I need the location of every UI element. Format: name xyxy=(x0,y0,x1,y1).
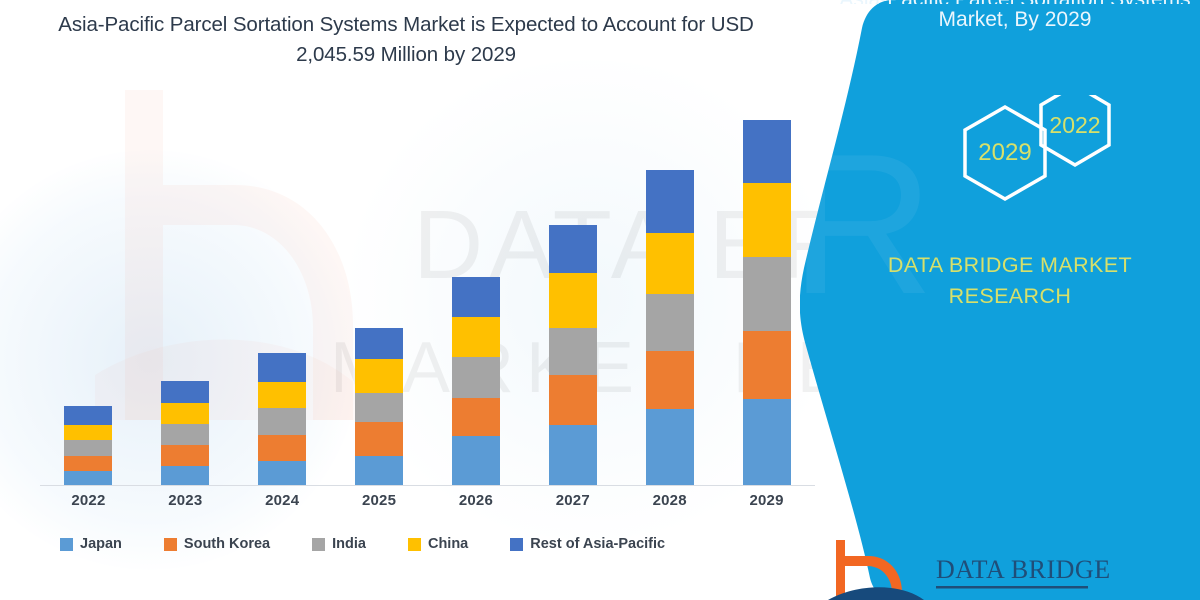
x-tick-label: 2028 xyxy=(635,492,705,509)
data-bridge-logo: DATA BRIDGE xyxy=(828,534,1128,600)
bar-group[interactable] xyxy=(161,381,209,485)
legend-swatch xyxy=(312,538,325,551)
bar-segment[interactable] xyxy=(549,425,597,485)
bar-segment[interactable] xyxy=(646,409,694,485)
bar-group[interactable] xyxy=(549,225,597,485)
infographic-canvas: DATA BRIDGE MARKET RESEARCH Asia-Pacific… xyxy=(0,0,1200,600)
bar-segment[interactable] xyxy=(64,456,112,472)
bar-segment[interactable] xyxy=(452,398,500,436)
bar-segment[interactable] xyxy=(64,425,112,440)
x-tick-label: 2026 xyxy=(441,492,511,509)
brand-line-1: DATA BRIDGE MARKET xyxy=(840,250,1180,281)
legend-swatch xyxy=(408,538,421,551)
x-axis-tick-labels: 20222023202420252026202720282029 xyxy=(40,492,815,522)
bar-segment[interactable] xyxy=(355,393,403,422)
hexagon-2022-label: 2022 xyxy=(1049,112,1100,138)
bar-group[interactable] xyxy=(258,353,306,485)
bar-segment[interactable] xyxy=(646,351,694,410)
legend-label: China xyxy=(428,536,468,552)
bar-segment[interactable] xyxy=(258,435,306,461)
chart-legend: JapanSouth KoreaIndiaChinaRest of Asia-P… xyxy=(60,536,800,552)
bar-segment[interactable] xyxy=(452,277,500,317)
logo-underline xyxy=(936,586,1088,589)
bar-group[interactable] xyxy=(355,328,403,485)
stacked-bar-chart: 20222023202420252026202720282029 xyxy=(40,110,815,488)
bar-segment[interactable] xyxy=(646,170,694,233)
legend-label: Japan xyxy=(80,536,122,552)
bar-segment[interactable] xyxy=(549,375,597,425)
panel-title: Asia-Pacific Parcel Sortation Systems Ma… xyxy=(830,0,1200,36)
chart-plot-area xyxy=(40,110,815,485)
bar-segment[interactable] xyxy=(646,294,694,351)
bar-segment[interactable] xyxy=(549,225,597,273)
bar-segment[interactable] xyxy=(743,120,791,183)
panel-title-line-bottom: Market, By 2029 xyxy=(939,8,1092,31)
x-axis-line xyxy=(40,485,815,486)
bar-group[interactable] xyxy=(743,120,791,486)
brand-name: DATA BRIDGE MARKET RESEARCH xyxy=(840,250,1180,311)
bar-segment[interactable] xyxy=(743,331,791,399)
legend-item[interactable]: China xyxy=(408,536,468,552)
bar-group[interactable] xyxy=(452,277,500,485)
bar-segment[interactable] xyxy=(355,328,403,359)
bar-segment[interactable] xyxy=(161,381,209,403)
x-tick-label: 2029 xyxy=(732,492,802,509)
bar-segment[interactable] xyxy=(161,445,209,466)
bar-segment[interactable] xyxy=(452,436,500,485)
legend-item[interactable]: Rest of Asia-Pacific xyxy=(510,536,665,552)
bar-group[interactable] xyxy=(646,170,694,485)
x-tick-label: 2027 xyxy=(538,492,608,509)
legend-label: Rest of Asia-Pacific xyxy=(530,536,665,552)
legend-swatch xyxy=(164,538,177,551)
bar-segment[interactable] xyxy=(743,183,791,258)
bar-segment[interactable] xyxy=(743,399,791,485)
panel-title-line-top: Asia-Pacific Parcel Sortation Systems xyxy=(830,0,1200,4)
hexagon-2029-label: 2029 xyxy=(978,139,1031,166)
bar-segment[interactable] xyxy=(452,357,500,398)
bar-segment[interactable] xyxy=(258,353,306,382)
x-tick-label: 2025 xyxy=(344,492,414,509)
x-tick-label: 2023 xyxy=(150,492,220,509)
bar-segment[interactable] xyxy=(355,456,403,485)
legend-item[interactable]: South Korea xyxy=(164,536,270,552)
bar-group[interactable] xyxy=(64,406,112,485)
logo-text: DATA BRIDGE xyxy=(936,555,1111,584)
bar-segment[interactable] xyxy=(161,466,209,485)
legend-item[interactable]: India xyxy=(312,536,366,552)
brand-line-2: RESEARCH xyxy=(840,281,1180,312)
legend-label: India xyxy=(332,536,366,552)
bar-segment[interactable] xyxy=(64,471,112,485)
bar-segment[interactable] xyxy=(161,424,209,445)
year-hexagons: 2029 2022 xyxy=(905,95,1135,230)
bar-segment[interactable] xyxy=(258,382,306,408)
x-tick-label: 2022 xyxy=(53,492,123,509)
bar-segment[interactable] xyxy=(258,461,306,485)
bar-segment[interactable] xyxy=(355,422,403,456)
bar-segment[interactable] xyxy=(64,406,112,425)
legend-label: South Korea xyxy=(184,536,270,552)
bar-segment[interactable] xyxy=(549,328,597,375)
legend-item[interactable]: Japan xyxy=(60,536,122,552)
bar-segment[interactable] xyxy=(64,440,112,456)
page-title: Asia-Pacific Parcel Sortation Systems Ma… xyxy=(36,10,776,69)
bar-segment[interactable] xyxy=(646,233,694,294)
brand-panel: R Asia-Pacific Parcel Sortation Systems … xyxy=(800,0,1200,600)
bar-segment[interactable] xyxy=(452,317,500,357)
logo-mark-stem xyxy=(836,540,845,600)
bar-segment[interactable] xyxy=(743,257,791,331)
x-tick-label: 2024 xyxy=(247,492,317,509)
bar-segment[interactable] xyxy=(258,408,306,434)
bar-segment[interactable] xyxy=(355,359,403,393)
bar-segment[interactable] xyxy=(549,273,597,328)
bar-segment[interactable] xyxy=(161,403,209,424)
legend-swatch xyxy=(60,538,73,551)
legend-swatch xyxy=(510,538,523,551)
